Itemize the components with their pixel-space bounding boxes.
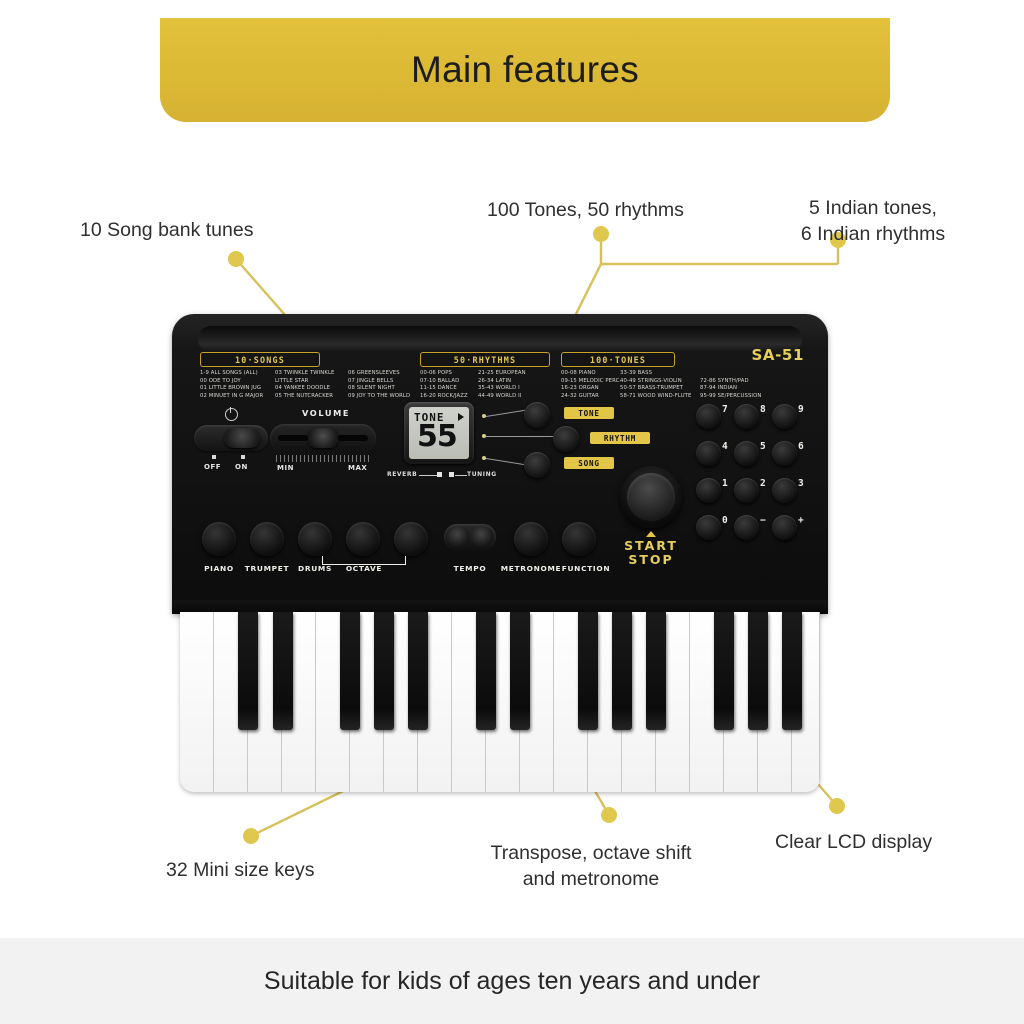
keypad-button-8[interactable] [734, 404, 759, 429]
callout-song-bank: 10 Song bank tunes [80, 218, 253, 244]
button-octave-up[interactable] [394, 522, 428, 556]
power-icon [225, 408, 238, 421]
callout-indian-line2: 6 Indian rhythms [790, 222, 956, 248]
keypad-button-6[interactable] [772, 441, 797, 466]
power-on-tick [241, 455, 245, 459]
keypad-label-2: 2 [760, 478, 766, 489]
mode-button-rhythm[interactable] [553, 426, 579, 452]
reverb-tuning-indicators: REVERB TUNING [387, 470, 497, 480]
white-keys-group[interactable] [180, 612, 820, 792]
keypad-label-6: 6 [798, 441, 804, 452]
piano-keys[interactable] [172, 600, 828, 792]
lcd-value: 55 [417, 422, 457, 452]
keypad-label-minus: − [760, 515, 766, 526]
keypad-button-minus[interactable] [734, 515, 759, 540]
callout-transpose-line1: Transpose, octave shift [479, 841, 703, 867]
tempo-buttons[interactable] [444, 524, 496, 550]
label-piano: PIANO [194, 564, 244, 573]
button-piano[interactable] [202, 522, 236, 556]
keypad-button-5[interactable] [734, 441, 759, 466]
keypad-label-9: 9 [798, 404, 804, 415]
footer-bar: Suitable for kids of ages ten years and … [0, 938, 1024, 1024]
value-dial[interactable] [620, 466, 682, 528]
speaker-grille [198, 326, 802, 352]
model-number: SA-51 [751, 346, 804, 364]
volume-scale-marks [276, 455, 370, 462]
header-banner: Main features [160, 18, 890, 122]
keypad-button-7[interactable] [696, 404, 721, 429]
reverb-dot [437, 472, 442, 477]
label-function: FUNCTION [558, 564, 614, 573]
power-switch-knob[interactable] [224, 428, 260, 448]
value-dial-inner[interactable] [627, 473, 675, 521]
volume-slider-knob[interactable] [308, 428, 338, 448]
control-panel: 10·SONGS 50·RHYTHMS 100·TONES SA-51 1-9 … [172, 314, 828, 614]
keyboard-product-image: 10·SONGS 50·RHYTHMS 100·TONES SA-51 1-9 … [172, 314, 828, 792]
lcd-arrow-icon [458, 413, 464, 421]
reverb-label: REVERB [387, 471, 417, 478]
tones-column-3: 72-86 SYNTH/PAD87-94 INDIAN 95-99 SE/PER… [700, 370, 761, 400]
callout-mini-keys: 32 Mini size keys [166, 858, 314, 884]
lcd-bezel: TONE 55 [404, 402, 474, 464]
rhythms-section-title: 50·RHYTHMS [420, 352, 550, 367]
label-octave: OCTAVE [338, 564, 390, 573]
keypad-button-2[interactable] [734, 478, 759, 503]
button-drums[interactable] [298, 522, 332, 556]
callout-indian-line1: 5 Indian tones, [790, 196, 956, 222]
keypad-label-1: 1 [722, 478, 728, 489]
label-tempo: TEMPO [438, 564, 502, 573]
keypad-label-7: 7 [722, 404, 728, 415]
keypad-button-0[interactable] [696, 515, 721, 540]
power-off-label: OFF [204, 463, 221, 471]
callout-transpose: Transpose, octave shift and metronome [479, 841, 703, 892]
button-metronome[interactable] [514, 522, 548, 556]
tones-column-2: 33-39 BASS40-49 STRINGS-VIOLIN 50-57 BRA… [620, 370, 691, 400]
tag-rhythm: RHYTHM [590, 432, 650, 444]
keypad-button-1[interactable] [696, 478, 721, 503]
keypad-label-3: 3 [798, 478, 804, 489]
songs-column-1: 1-9 ALL SONGS (ALL)00 ODE TO JOY 01 LITT… [200, 370, 263, 400]
start-label: START [601, 538, 701, 553]
tag-tone: TONE [564, 407, 614, 419]
tag-song: SONG [564, 457, 614, 469]
keypad-button-4[interactable] [696, 441, 721, 466]
keypad-label-8: 8 [760, 404, 766, 415]
songs-section-title: 10·SONGS [200, 352, 320, 367]
keypad-label-plus: + [798, 515, 804, 526]
callout-transpose-line2: and metronome [479, 867, 703, 893]
songs-column-2: 03 TWINKLE TWINKLELITTLE STAR 04 YANKEE … [275, 370, 334, 400]
tuning-dot [449, 472, 454, 477]
start-stop-triangle-icon [646, 531, 656, 537]
tones-column-1: 00-08 PIANO09-15 MELODIC PERC. 16-23 ORG… [561, 370, 621, 400]
page-title: Main features [411, 49, 639, 91]
keypad-label-5: 5 [760, 441, 766, 452]
mode-button-song[interactable] [524, 452, 550, 478]
tones-section-title: 100·TONES [561, 352, 675, 367]
footer-text: Suitable for kids of ages ten years and … [264, 967, 760, 996]
rhythms-column-1: 00-06 POPS07-10 BALLAD 11-15 DANCE16-20 … [420, 370, 468, 400]
button-trumpet[interactable] [250, 522, 284, 556]
keypad-label-4: 4 [722, 441, 728, 452]
callout-indian-tones: 5 Indian tones, 6 Indian rhythms [790, 196, 956, 247]
volume-min-label: MIN [277, 464, 294, 472]
rhythms-column-2: 21-25 EUROPEAN26-34 LATIN 35-43 WORLD I4… [478, 370, 526, 400]
lcd-display: TONE 55 [409, 407, 469, 459]
tuning-label: TUNING [467, 471, 497, 478]
keypad-button-plus[interactable] [772, 515, 797, 540]
mode-button-tone[interactable] [524, 402, 550, 428]
power-off-tick [212, 455, 216, 459]
label-metronome: METRONOME [500, 564, 562, 573]
keypad-label-0: 0 [722, 515, 728, 526]
power-switch[interactable] [194, 425, 268, 451]
volume-label: VOLUME [302, 408, 350, 418]
callout-tones-rhythms: 100 Tones, 50 rhythms [487, 198, 684, 224]
callout-lcd: Clear LCD display [775, 830, 932, 856]
stop-label: STOP [601, 552, 701, 567]
label-trumpet: TRUMPET [242, 564, 292, 573]
tempo-down-button[interactable] [447, 527, 469, 547]
keypad-button-9[interactable] [772, 404, 797, 429]
button-octave-down[interactable] [346, 522, 380, 556]
volume-slider[interactable] [270, 424, 376, 452]
numeric-keypad[interactable]: 7 8 9 4 5 6 1 2 3 0 − + [696, 404, 808, 546]
label-drums: DRUMS [290, 564, 340, 573]
tempo-up-button[interactable] [471, 527, 493, 547]
button-function[interactable] [562, 522, 596, 556]
songs-column-3: 06 GREENSLEEVES07 JINGLE BELLS 08 SILENT… [348, 370, 410, 400]
volume-max-label: MAX [348, 464, 367, 472]
power-on-label: ON [235, 463, 248, 471]
keypad-button-3[interactable] [772, 478, 797, 503]
